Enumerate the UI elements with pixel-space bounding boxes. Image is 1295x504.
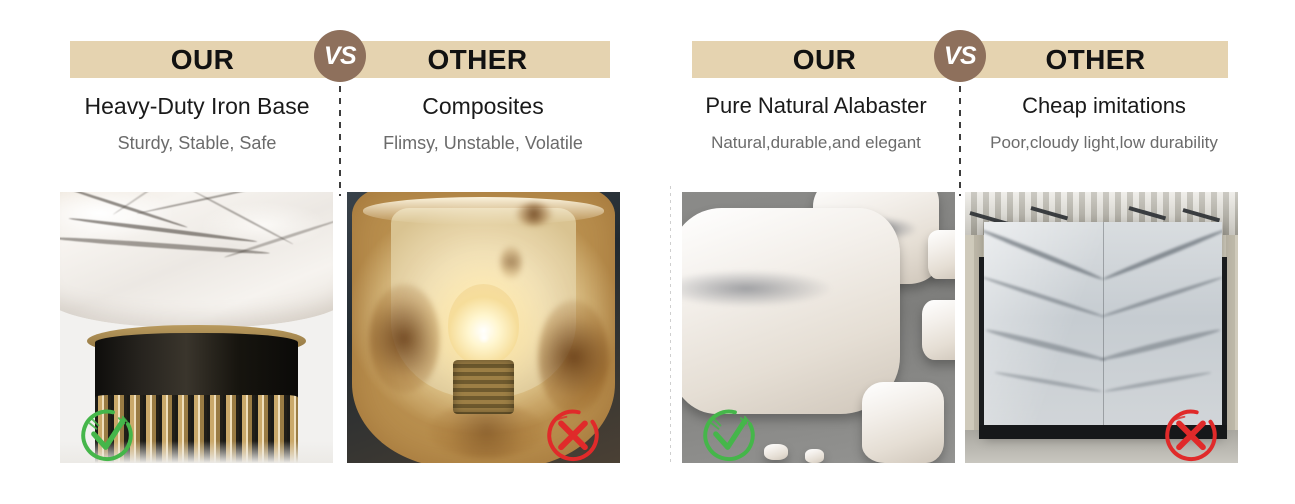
- theirs-title: Composites: [346, 92, 620, 120]
- theirs-subtitle: Flimsy, Unstable, Volatile: [346, 132, 620, 154]
- ours-subtitle: Sturdy, Stable, Safe: [60, 132, 334, 154]
- photo-row: [60, 192, 620, 463]
- marble-iron-base-image: [60, 192, 333, 463]
- ours-photo: [682, 192, 955, 463]
- ours-subtitle: Natural,durable,and elegant: [682, 132, 950, 154]
- vs-badge: VS: [314, 30, 366, 82]
- theirs-text-column: Cheap imitations Poor,cloudy light,low d…: [970, 92, 1238, 154]
- vs-badge: VS: [934, 30, 986, 82]
- comparison-panel-2: OUR OTHER VS Pure Natural Alabaster Natu…: [682, 0, 1238, 504]
- theirs-photo: [965, 192, 1238, 463]
- header-other-label: OTHER: [345, 41, 610, 78]
- header-other-label: OTHER: [963, 41, 1228, 78]
- ours-text-column: Pure Natural Alabaster Natural,durable,a…: [682, 92, 950, 154]
- ours-title: Pure Natural Alabaster: [682, 92, 950, 120]
- theirs-subtitle: Poor,cloudy light,low durability: [970, 132, 1238, 154]
- theirs-photo: [347, 192, 620, 463]
- comparison-panel-1: OUR OTHER VS Heavy-Duty Iron Base Sturdy…: [60, 0, 620, 504]
- column-divider: [959, 86, 961, 196]
- burnt-composite-lamp-image: [347, 192, 620, 463]
- theirs-text-column: Composites Flimsy, Unstable, Volatile: [346, 92, 620, 154]
- header-our-label: OUR: [692, 41, 957, 78]
- ours-photo: [60, 192, 333, 463]
- photo-row: [682, 192, 1238, 463]
- theirs-title: Cheap imitations: [970, 92, 1238, 120]
- panel-separator: [670, 186, 671, 464]
- column-divider: [339, 86, 341, 196]
- raw-alabaster-stone-image: [682, 192, 955, 463]
- header-our-label: OUR: [70, 41, 335, 78]
- comparison-infographic: OUR OTHER VS Heavy-Duty Iron Base Sturdy…: [0, 0, 1295, 504]
- ours-title: Heavy-Duty Iron Base: [60, 92, 334, 120]
- grey-marble-slab-warehouse-image: [965, 192, 1238, 463]
- ours-text-column: Heavy-Duty Iron Base Sturdy, Stable, Saf…: [60, 92, 334, 154]
